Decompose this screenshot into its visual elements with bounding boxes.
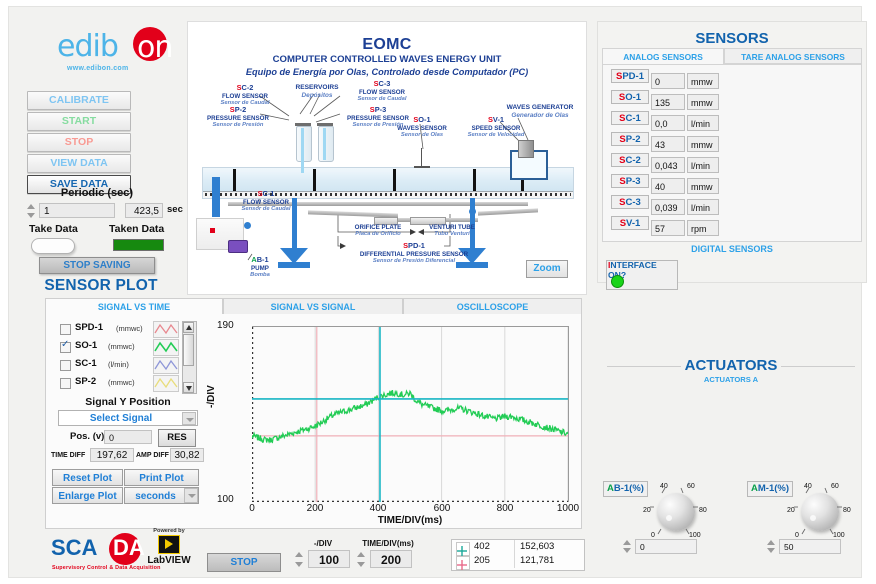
knob-am1[interactable] — [801, 493, 839, 531]
stop-button[interactable]: STOP — [27, 133, 131, 152]
sensor-tag: SPD-1 — [611, 69, 649, 83]
pump-indicator — [210, 228, 215, 233]
actuators-subtitle: ACTUATORS A — [597, 375, 865, 384]
chart-x-tick: 800 — [497, 503, 514, 514]
select-signal-value: Select Signal — [59, 411, 197, 426]
signal-unit: (l/min) — [108, 360, 129, 369]
chart-x-axis-label: TIME/DIV(ms) — [252, 515, 568, 526]
knob-tick: 20 — [643, 507, 651, 514]
knob-tick: 80 — [699, 507, 707, 514]
list-item[interactable]: SP-2 (mmwc) — [58, 374, 198, 392]
water-jet-right — [323, 128, 326, 160]
signal-color-swatch-sc1[interactable] — [153, 357, 179, 374]
signal-name: SC-1 — [75, 358, 97, 369]
label-en: PRESSURE SENSOR — [192, 115, 284, 122]
amp-diff-label: AMP DIFF — [136, 452, 169, 459]
actuator-tag-ab1: AB-1(%) — [603, 481, 648, 497]
signal-unit: (mmwc) — [116, 324, 143, 333]
scroll-up-icon[interactable] — [183, 322, 194, 333]
periodic-save-panel: Periodic (sec) 1 423,5 sec Take Data Tak… — [17, 187, 177, 287]
cursor-marker-icon — [456, 542, 470, 556]
label-code: SC-3 — [340, 80, 424, 89]
sensor-tag: SV-1 — [611, 216, 649, 230]
take-data-toggle[interactable] — [31, 238, 75, 254]
label-code: SPD-1 — [334, 242, 494, 251]
pos-label: Pos. (v) — [70, 431, 104, 442]
taken-data-label: Taken Data — [109, 223, 164, 235]
ab1-value[interactable]: 0 — [635, 539, 697, 554]
chart-stop-button[interactable]: STOP — [207, 553, 281, 572]
sensor-value: 0 — [651, 73, 685, 89]
label-es: Sensor de Velocidad — [456, 132, 536, 139]
waves-sensor-probe — [421, 148, 422, 168]
label-en: FLOW SENSOR — [206, 93, 284, 100]
sensors-title: SENSORS — [598, 30, 866, 47]
actuators-panel: ACTUATORS ACTUATORS A AB-1(%) 0 20 40 60… — [597, 347, 865, 579]
label-es: Generador de Olas — [500, 112, 580, 119]
signal-checkbox-sc1[interactable] — [60, 360, 71, 371]
plot-tab-row: SIGNAL VS TIME SIGNAL VS SIGNAL OSCILLOS… — [45, 298, 582, 315]
volts-per-div-control: -/DIV 100 — [293, 539, 353, 569]
analog-sensors-body: SPD-1 0 mmw SO-1 135 mmw SC-1 0,0 l/min … — [602, 64, 862, 242]
waves-generator-paddle — [518, 140, 534, 158]
chart-x-tick: 1000 — [557, 503, 579, 514]
diagram-subtitle-en: COMPUTER CONTROLLED WAVES ENERGY UNIT — [188, 54, 586, 65]
label-en: FLOW SENSOR — [228, 199, 304, 206]
chevron-down-icon[interactable] — [184, 488, 198, 503]
time-per-div-label: TIME/DIV(ms) — [355, 539, 421, 548]
list-item[interactable]: SPD-1 (mmwc) — [58, 320, 198, 338]
signal-unit: (mmwc) — [108, 342, 135, 351]
signal-list-scrollbar[interactable] — [182, 321, 197, 394]
scroll-down-icon[interactable] — [183, 382, 194, 393]
diagram-subtitle-es: Equipo de Energía por Olas, Controlado d… — [188, 67, 586, 77]
sensor-value: 40 — [651, 178, 685, 194]
label-es: Sensor de Olas — [386, 132, 458, 139]
label-code: SC-1 — [228, 190, 304, 199]
process-diagram[interactable]: EOMC COMPUTER CONTROLLED WAVES ENERGY UN… — [187, 21, 587, 295]
powered-by-label: Powered by — [141, 528, 197, 534]
time-unit-dropdown[interactable]: seconds — [124, 487, 199, 504]
time-per-div-control: TIME/DIV(ms) 200 — [355, 539, 421, 569]
sensor-unit: l/min — [687, 157, 719, 173]
label-sc3: SC-3 FLOW SENSOR Sensor de Caudal — [340, 80, 424, 102]
chart-y-axis-label: -/DIV — [206, 385, 217, 408]
volts-per-div-label: -/DIV — [293, 539, 353, 548]
cursor-y-value: 121,781 — [520, 555, 554, 566]
print-plot-button[interactable]: Print Plot — [124, 469, 199, 486]
edibon-logo: edib on www.edibon.com — [45, 21, 187, 83]
label-es: Sensor de Presión Diferencial — [334, 258, 494, 265]
start-button[interactable]: START — [27, 112, 131, 131]
signal-unit: (mmwc) — [108, 378, 135, 387]
time-per-div-value[interactable]: 200 — [370, 550, 412, 568]
interface-status-box: INTERFACE ON? — [606, 260, 678, 290]
chart-y-tick-min: 100 — [217, 494, 234, 505]
valve-icon — [244, 222, 251, 229]
plot-tab-body: SPD-1 (mmwc) SO-1 (mmwc) SC-1 (l/min) — [45, 314, 582, 529]
left-control-column: edib on www.edibon.com — [45, 21, 187, 83]
label-sv1: SV-1 SPEED SENSOR Sensor de Velocidad — [456, 116, 536, 138]
label-es: Bomba — [230, 272, 290, 279]
label-en: PUMP — [230, 265, 290, 272]
label-venturi-tube: VENTURI TUBE Tubo Venturi — [414, 224, 490, 238]
knob-tick: 100 — [689, 532, 701, 539]
sensor-unit: mmw — [687, 94, 719, 110]
list-item[interactable]: SC-1 (l/min) — [58, 356, 198, 374]
main-action-buttons: CALIBRATE START STOP VIEW DATA SAVE DATA — [27, 91, 131, 196]
take-data-label: Take Data — [29, 223, 78, 235]
chart-x-tick: 0 — [249, 503, 255, 514]
view-data-button[interactable]: VIEW DATA — [27, 154, 131, 173]
interface-led — [611, 275, 624, 288]
cursor-marker-icon — [456, 556, 470, 570]
signal-checkbox-spd1[interactable] — [60, 324, 71, 335]
elapsed-time-unit: sec — [167, 204, 183, 215]
table-row: 402 152,603 — [452, 541, 584, 555]
signal-name: SP-2 — [75, 376, 96, 387]
table-row: 205 121,781 — [452, 555, 584, 569]
label-es: Placa de Orificio — [340, 231, 416, 238]
enlarge-plot-button[interactable]: Enlarge Plot — [52, 487, 123, 504]
sensor-value: 57 — [651, 220, 685, 236]
pump-motor — [228, 240, 248, 253]
inlet-column — [212, 177, 220, 217]
label-es: Sensor de Caudal — [340, 96, 424, 103]
time-diff-label: TIME DIFF — [51, 452, 85, 459]
amp-diff-value: 30,82 — [170, 448, 204, 462]
actuators-title: ACTUATORS — [597, 357, 865, 374]
select-signal-dropdown[interactable]: Select Signal — [58, 410, 198, 426]
edibon-wordmark-on: on — [137, 30, 172, 65]
signal-checkbox-sp2[interactable] — [60, 378, 71, 389]
sensor-unit: mmw — [687, 73, 719, 89]
signal-legend-list: SPD-1 (mmwc) SO-1 (mmwc) SC-1 (l/min) — [58, 320, 198, 392]
app-shell: edib on www.edibon.com CALIBRATE START S… — [8, 6, 862, 578]
knob-tick: 100 — [833, 532, 845, 539]
signal-name: SPD-1 — [75, 322, 103, 333]
label-code: SP-2 — [192, 106, 284, 115]
label-en: FLOW SENSOR — [340, 89, 424, 96]
knob-tick: 0 — [651, 532, 655, 539]
label-waves-generator: WAVES GENERATOR Generador de Olas — [500, 104, 580, 119]
scrollbar-thumb[interactable] — [183, 334, 194, 366]
label-sc2: SC-2 FLOW SENSOR Sensor de Caudal — [206, 84, 284, 106]
label-en: WAVES SENSOR — [386, 125, 458, 132]
label-sp2: SP-2 PRESSURE SENSOR Sensor de Presión — [192, 106, 284, 128]
ab1-stepper[interactable] — [621, 539, 634, 554]
time-diff-value: 197,62 — [90, 448, 134, 462]
periodic-input[interactable]: 1 — [39, 203, 115, 218]
chart-x-tick: 600 — [434, 503, 451, 514]
reservoir-right — [318, 126, 334, 162]
periodic-stepper[interactable] — [25, 203, 38, 219]
sensor-plot-heading: SENSOR PLOT — [17, 277, 185, 295]
sensor-tag: SP-2 — [611, 132, 649, 146]
calibrate-button[interactable]: CALIBRATE — [27, 91, 131, 110]
labview-icon — [158, 535, 180, 554]
water-jet-left — [301, 128, 304, 173]
elapsed-time-value: 423,5 — [125, 203, 163, 218]
tab-signal-vs-signal[interactable]: SIGNAL VS SIGNAL — [223, 298, 403, 315]
signal-color-swatch-so1[interactable] — [153, 339, 179, 356]
knob-tick: 40 — [804, 483, 812, 490]
signal-color-swatch-sp2[interactable] — [153, 375, 179, 392]
cursor-readout-table: 402 152,603 205 121,781 — [451, 539, 585, 571]
signal-y-position-label: Signal Y Position — [60, 396, 196, 408]
label-es: Sensor de Caudal — [228, 206, 304, 213]
cursor-y-value: 152,603 — [520, 541, 554, 552]
sensor-tag: SO-1 — [611, 90, 649, 104]
label-spd1: SPD-1 DIFFERENTIAL PRESSURE SENSOR Senso… — [334, 242, 494, 264]
label-en: DIFFERENTIAL PRESSURE SENSOR — [334, 251, 494, 258]
label-code: SC-2 — [206, 84, 284, 93]
list-item[interactable]: SO-1 (mmwc) — [58, 338, 198, 356]
chart-svg — [252, 327, 568, 502]
signal-checkbox-so1[interactable] — [60, 342, 71, 353]
edibon-url: www.edibon.com — [67, 65, 129, 72]
am1-stepper[interactable] — [765, 539, 778, 554]
signal-chart[interactable]: -/DIV 190 100 TIME/DIV(ms) 0 200 400 600… — [204, 316, 580, 526]
reset-plot-button[interactable]: Reset Plot — [52, 469, 123, 486]
volts-per-div-value[interactable]: 100 — [308, 550, 350, 568]
label-so1: SO-1 WAVES SENSOR Sensor de Olas — [386, 116, 458, 138]
sensor-unit: rpm — [687, 220, 719, 236]
chevron-down-icon[interactable] — [182, 412, 196, 425]
label-sc1: SC-1 FLOW SENSOR Sensor de Caudal — [228, 190, 304, 212]
stop-saving-button[interactable]: STOP SAVING — [39, 257, 155, 274]
chart-plot-area[interactable] — [252, 326, 569, 502]
taken-data-led — [113, 239, 164, 251]
signal-name: SO-1 — [75, 340, 97, 351]
label-en: SPEED SENSOR — [456, 125, 536, 132]
knob-tick: 40 — [660, 483, 668, 490]
label-es: Sensor de Presión — [192, 122, 284, 129]
knob-tick: 60 — [831, 483, 839, 490]
knob-tick: 0 — [795, 532, 799, 539]
sensor-unit: mmw — [687, 178, 719, 194]
sensor-value: 0,0 — [651, 115, 685, 131]
reservoir-left — [296, 126, 312, 162]
knob-tick: 20 — [787, 507, 795, 514]
scada-wordmark: SCA — [51, 535, 97, 561]
chart-x-tick: 400 — [370, 503, 387, 514]
tab-signal-vs-time[interactable]: SIGNAL VS TIME — [45, 298, 223, 315]
circulation-valve-icon — [469, 208, 476, 215]
periodic-label: Periodic (sec) — [17, 187, 177, 199]
sensor-tag: SC-3 — [611, 195, 649, 209]
cursor-x-value: 402 — [474, 541, 490, 552]
time-per-div-stepper[interactable] — [355, 551, 368, 568]
sensor-value: 0,039 — [651, 199, 685, 215]
label-ab1: AB-1 PUMP Bomba — [230, 256, 290, 278]
label-en: ORIFICE PLATE — [340, 224, 416, 231]
knob-tick: 60 — [687, 483, 695, 490]
knob-ab1[interactable] — [657, 493, 695, 531]
volts-per-div-stepper[interactable] — [293, 551, 306, 568]
diagram-title: EOMC — [188, 36, 586, 54]
chart-x-tick: 200 — [307, 503, 324, 514]
pipe-segment — [478, 208, 538, 215]
digital-sensors-title: DIGITAL SENSORS — [598, 244, 866, 254]
sensor-value: 135 — [651, 94, 685, 110]
label-en: VENTURI TUBE — [414, 224, 490, 231]
tab-oscilloscope[interactable]: OSCILLOSCOPE — [403, 298, 582, 315]
knob-tick: 80 — [843, 507, 851, 514]
label-code: SP-3 — [332, 106, 424, 115]
edibon-wordmark: edib — [57, 29, 118, 64]
sensor-tag: SC-1 — [611, 111, 649, 125]
am1-value[interactable]: 50 — [779, 539, 841, 554]
application-window: edib on www.edibon.com CALIBRATE START S… — [0, 0, 876, 584]
sensor-value: 0,043 — [651, 157, 685, 173]
label-en: WAVES GENERATOR — [500, 104, 580, 112]
label-code: SO-1 — [386, 116, 458, 125]
tab-tare-analog-sensors[interactable]: TARE ANALOG SENSORS — [724, 48, 862, 64]
signal-color-swatch-spd1[interactable] — [153, 321, 179, 338]
sensor-tag: SP-3 — [611, 174, 649, 188]
sensor-tag: SC-2 — [611, 153, 649, 167]
tab-analog-sensors[interactable]: ANALOG SENSORS — [602, 48, 724, 64]
sensor-unit: mmw — [687, 136, 719, 152]
labview-label: LabVIEW — [141, 555, 197, 566]
label-code: AB-1 — [230, 256, 290, 265]
zoom-button[interactable]: Zoom — [526, 260, 568, 278]
cursor-x-value: 205 — [474, 555, 490, 566]
scada-wordmark-da: DA — [113, 535, 145, 561]
sensor-unit: l/min — [687, 115, 719, 131]
powered-by-labview: Powered by LabVIEW — [141, 528, 197, 566]
sensor-value: 43 — [651, 136, 685, 152]
sensors-panel: SENSORS ANALOG SENSORS TARE ANALOG SENSO… — [597, 21, 867, 283]
label-orifice-plate: ORIFICE PLATE Placa de Orificio — [340, 224, 416, 238]
sensor-unit: l/min — [687, 199, 719, 215]
label-es: Tubo Venturi — [414, 231, 490, 238]
pos-input[interactable]: 0 — [104, 430, 152, 444]
chart-y-tick-max: 190 — [217, 320, 234, 331]
res-button[interactable]: RES — [158, 429, 196, 447]
actuator-tag-am1: AM-1(%) — [747, 481, 793, 497]
